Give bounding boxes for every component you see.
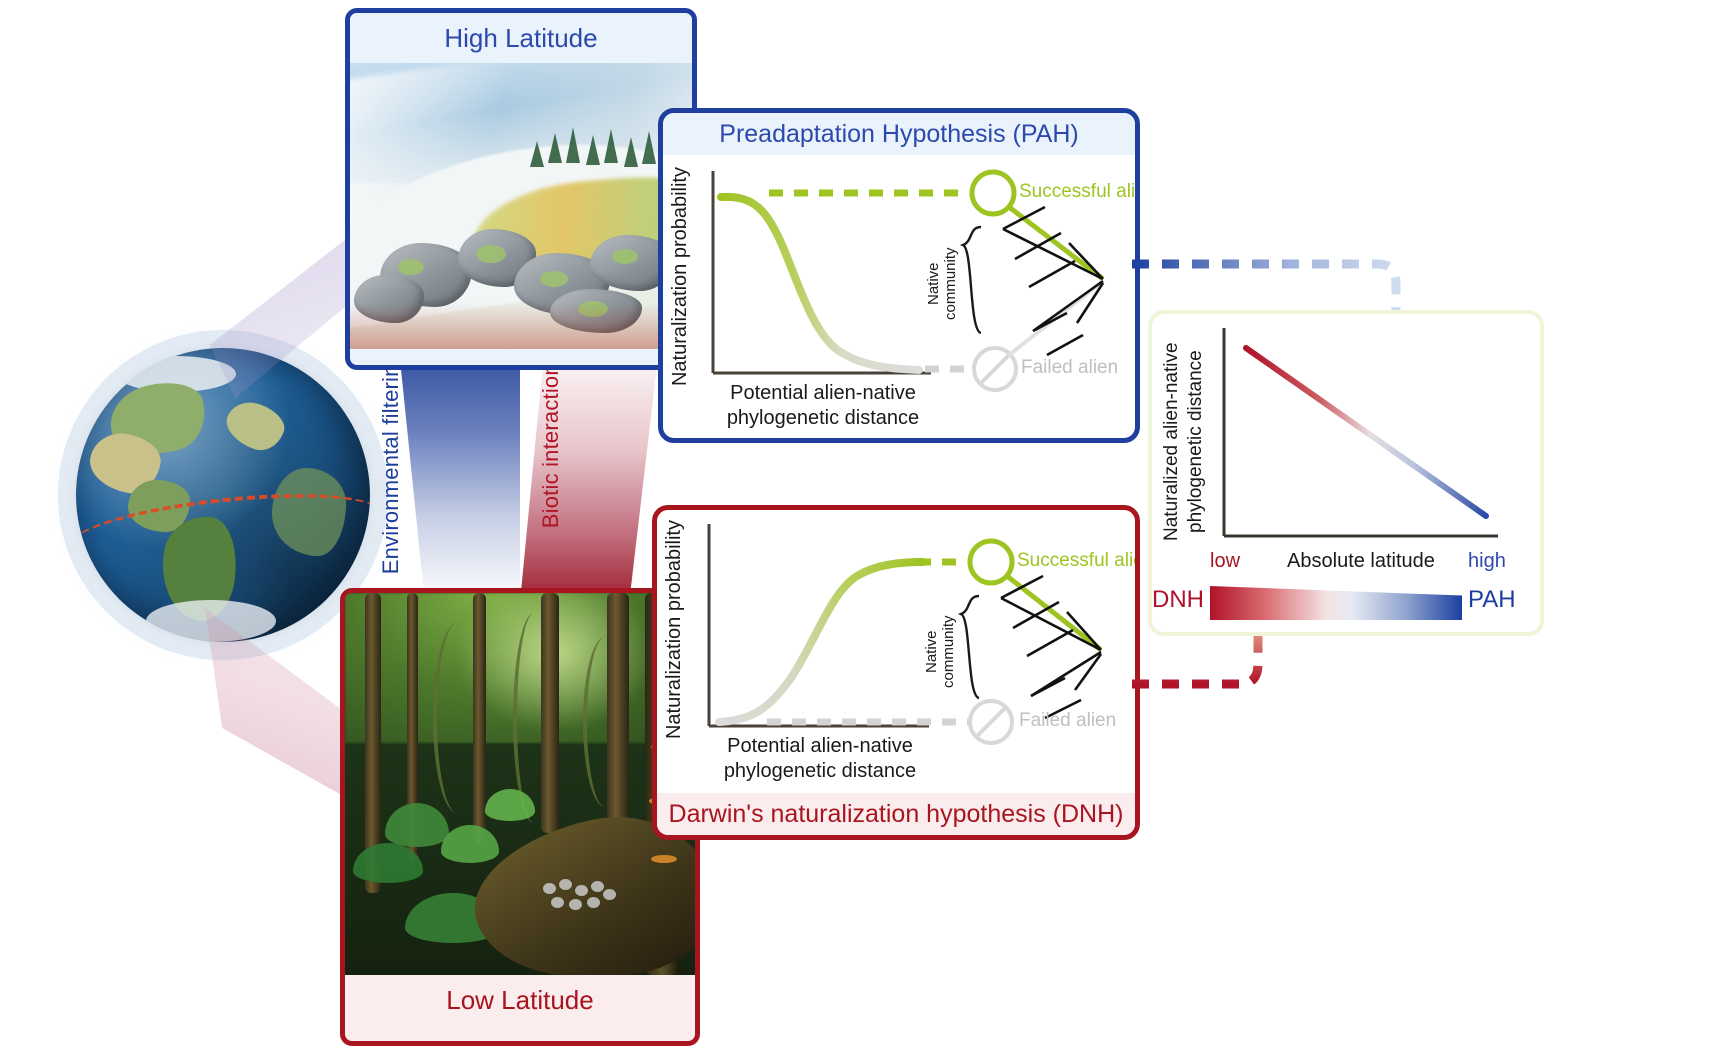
conifer-tree [604,129,618,163]
dnh-failed-alien-label: Failed alien [1019,710,1116,732]
dnh-panel: Naturalization probability [652,505,1140,840]
pah-successful-alien-label: Successful alien [1019,181,1140,203]
pah-failed-alien-label: Failed alien [1021,357,1118,379]
pebble [543,883,556,894]
moss-patch [540,271,568,287]
summary-panel: Naturalized alien-nativephylogenetic dis… [1148,310,1544,636]
summary-x-axis-label: Absolute latitude [1256,550,1466,573]
dnh-x-axis-label: Potential alien-nativephylogenetic dista… [703,734,937,784]
pebble-cluster [541,879,627,919]
pah-curve [721,197,919,370]
pah-successful-alien-node [972,172,1014,214]
low-latitude-illustration [345,593,695,975]
moss-patch [612,249,638,264]
globe-container [58,330,388,660]
gradient-pah-label: PAH [1468,586,1516,614]
environmental-filtering-gradient-bar [398,340,520,602]
biotic-interactions-label: Biotic interactions [538,352,564,528]
dnh-successful-alien-node [970,541,1012,583]
dnh-native-community-label: Nativecommunity [923,598,957,706]
pah-x-axis-label: Potential alien-nativephylogenetic dista… [707,381,939,431]
liana-vine [433,623,481,813]
pebble [575,885,588,896]
conifer-tree [530,141,544,167]
high-latitude-card: High Latitude [345,8,697,370]
dnh-successful-alien-label: Successful alien [1017,550,1140,572]
pebble [591,881,604,892]
conifer-tree [566,127,580,163]
pah-native-phylogeny [1003,207,1103,355]
pebble [569,899,582,910]
dnh-panel-body: Naturalization probability [657,510,1135,793]
dnh-curve [719,562,923,722]
moss-patch [398,259,424,275]
dnh-panel-title: Darwin's naturalization hypothesis (DNH) [657,793,1135,835]
pah-native-community-label: Nativecommunity [925,229,959,339]
landmass [220,395,290,456]
earth-globe-icon [76,348,370,642]
low-latitude-title: Low Latitude [345,975,695,1025]
dnh-native-phylogeny [1001,576,1101,718]
environmental-filtering-label: Environmental filtering [378,352,404,574]
gradient-dnh-label: DNH [1152,586,1204,614]
pebble [587,897,600,908]
lichen-ground-cover [350,303,692,349]
pebble [551,897,564,908]
conifer-tree [548,133,562,163]
conifer-tree [586,135,600,165]
high-latitude-illustration [350,63,692,349]
summary-chart-svg [1152,314,1540,564]
conifer-tree [642,131,656,164]
summary-trend-line [1246,348,1486,516]
conifer-tree [624,137,638,167]
pah-panel-title: Preadaptation Hypothesis (PAH) [663,113,1135,155]
summary-x-tick-high: high [1468,550,1506,573]
pebble [559,879,572,890]
low-latitude-card: Low Latitude [340,588,700,1046]
liana-vine [583,637,627,807]
pah-native-community-brace [963,227,981,333]
fern [385,803,449,847]
pah-panel-body: Naturalization probability [663,155,1135,438]
pah-panel: Preadaptation Hypothesis (PAH) Naturaliz… [658,108,1140,443]
moss-patch [476,245,506,263]
dnh-native-community-brace [961,596,979,698]
dnh-pah-gradient-bar [1210,586,1462,620]
fern [441,825,499,863]
high-latitude-title: High Latitude [350,13,692,63]
bracket-fungus [651,855,677,863]
summary-x-tick-low: low [1210,550,1240,573]
pebble [603,889,616,900]
